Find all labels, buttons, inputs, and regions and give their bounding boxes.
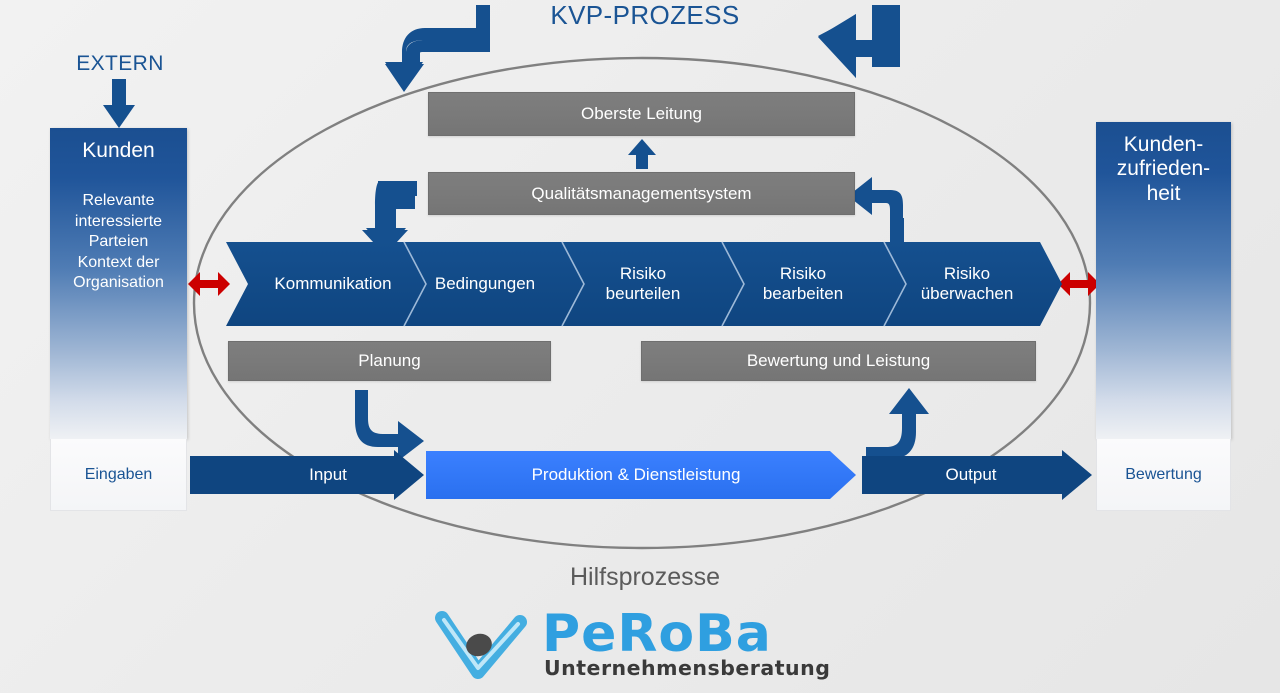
chevron-step-bedingungen: Bedingungen — [406, 274, 564, 294]
customer-panel-body: Relevante interessierte Parteien Kontext… — [50, 163, 187, 293]
right-exchange-arrow-icon — [1058, 272, 1100, 296]
flow-row-labels: Input Produktion & Dienstleistung Output — [188, 452, 1093, 497]
chevron-step-risiko-bearbeiten: Risiko bearbeiten — [724, 264, 882, 304]
process-chain-labels: Kommunikation Bedingungen Risiko beurtei… — [226, 242, 1062, 326]
chevron-step-risiko-beurteilen: Risiko beurteilen — [564, 264, 722, 304]
flow-label-produktion: Produktion & Dienstleistung — [426, 465, 846, 485]
support-processes-label: Hilfsprozesse — [470, 563, 820, 592]
logo-name: PeRoBa — [542, 604, 772, 664]
chevron-up-right-arrow-icon — [848, 177, 903, 240]
box-planung: Planung — [228, 341, 551, 381]
chevron-step-kommunikation: Kommunikation — [254, 274, 412, 294]
box-bewertung-und-leistung: Bewertung und Leistung — [641, 341, 1036, 381]
page-title: KVP-PROZESS — [470, 0, 820, 31]
extern-arrow-icon — [103, 79, 135, 128]
box-oberste-leitung: Oberste Leitung — [428, 92, 855, 136]
satisfaction-panel-title: Kunden- zufrieden- heit — [1096, 122, 1231, 206]
flow-label-input: Input — [238, 465, 418, 485]
output-up-arrow-icon — [866, 388, 929, 459]
kvp-arrow-right-icon — [818, 5, 900, 78]
customer-panel-title: Kunden — [50, 128, 187, 163]
extern-label: EXTERN — [50, 52, 190, 76]
inputs-footer-box: Eingaben — [50, 439, 187, 511]
flow-label-output: Output — [876, 465, 1066, 485]
chevron-step-risiko-ueberwachen: Risiko überwachen — [886, 264, 1048, 304]
diagram-canvas: EXTERN KVP-PROZESS Kunden Relevante inte… — [0, 0, 1280, 693]
evaluation-footer-box: Bewertung — [1096, 439, 1231, 511]
box-qualitaetsmanagementsystem: Qualitätsmanagementsystem — [428, 172, 855, 215]
customer-input-panel: Kunden Relevante interessierte Parteien … — [50, 128, 187, 439]
left-exchange-arrow-icon — [188, 272, 230, 296]
planung-down-arrow-icon — [355, 390, 424, 461]
peroba-logo: PeRoBa Unternehmensberatung — [432, 608, 852, 688]
logo-tagline: Unternehmensberatung — [544, 656, 830, 680]
leitung-up-arrow-icon — [628, 139, 656, 169]
customer-satisfaction-panel: Kunden- zufrieden- heit — [1096, 122, 1231, 439]
